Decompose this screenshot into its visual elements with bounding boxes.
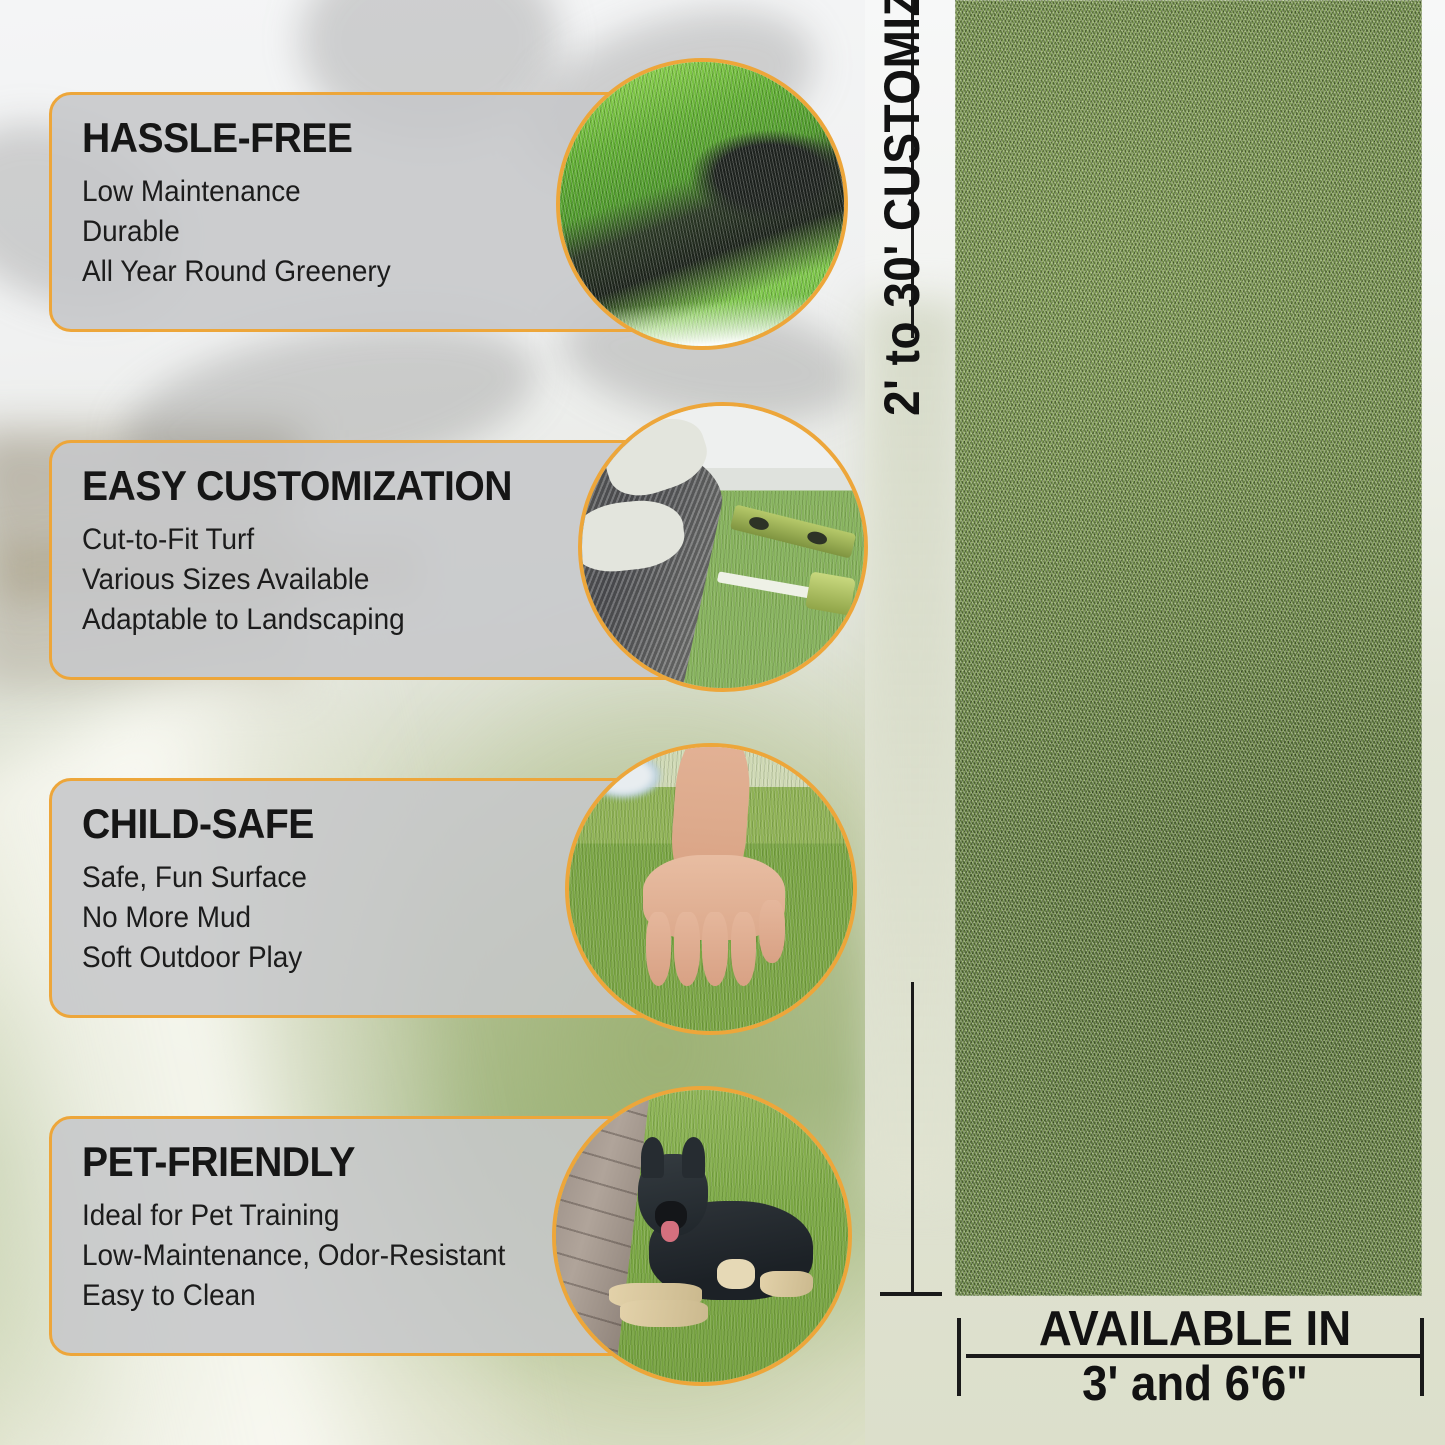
- feature-title: HASSLE-FREE: [82, 117, 625, 160]
- feature-bullet: Safe, Fun Surface: [82, 858, 625, 898]
- feature-bullet: No More Mud: [82, 898, 625, 938]
- dog-ear: [641, 1137, 664, 1178]
- feature-title: PET-FRIENDLY: [82, 1141, 625, 1184]
- feature-image-turf-installation: [578, 402, 868, 692]
- child-thumb: [759, 900, 785, 962]
- dog-hind-leg: [760, 1271, 813, 1297]
- feature-bullet: Easy to Clean: [82, 1276, 625, 1316]
- feature-bullet: Ideal for Pet Training: [82, 1196, 625, 1236]
- feature-image-turf-roll-closeup: [556, 58, 848, 350]
- feature-title: CHILD-SAFE: [82, 803, 625, 846]
- feature-title: EASY CUSTOMIZATION: [82, 465, 625, 508]
- child-finger: [702, 912, 728, 986]
- length-dimension-endcap-bottom: [880, 1292, 942, 1296]
- width-dimension-line1: AVAILABLE IN: [976, 1305, 1413, 1354]
- product-infographic: 2' to 30' CUSTOMIZABLE AVAILABLE IN 3' a…: [0, 0, 1445, 1445]
- length-dimension-label: 2' to 30' CUSTOMIZABLE: [864, 0, 940, 416]
- length-dimension-text: 2' to 30' CUSTOMIZABLE: [873, 0, 931, 416]
- tape-measure-housing: [805, 572, 856, 616]
- dog-chest-marking: [717, 1259, 755, 1288]
- dog-ear: [682, 1137, 705, 1178]
- child-finger: [646, 912, 672, 986]
- width-dimension-line2: 3' and 6'6": [976, 1358, 1413, 1411]
- width-dimension-label: AVAILABLE IN 3' and 6'6": [960, 1305, 1430, 1411]
- feature-image-child-hand-on-turf: [565, 743, 857, 1035]
- feature-bullet: Soft Outdoor Play: [82, 938, 625, 978]
- dog-tongue: [661, 1221, 679, 1241]
- child-finger: [674, 912, 700, 986]
- dog-front-leg: [620, 1300, 708, 1326]
- background-blur-object: [586, 753, 660, 798]
- feature-image-dog-on-turf: [552, 1086, 852, 1386]
- length-dimension-line-bottom: [911, 982, 914, 1294]
- feature-bullet: All Year Round Greenery: [82, 252, 625, 292]
- turf-product-strip: [955, 0, 1422, 1296]
- feature-bullet: Adaptable to Landscaping: [82, 600, 625, 640]
- feature-bullet: Low-Maintenance, Odor-Resistant: [82, 1236, 625, 1276]
- feature-bullet: Low Maintenance: [82, 172, 625, 212]
- background-right-blur: [865, 300, 965, 1200]
- feature-bullet: Various Sizes Available: [82, 560, 625, 600]
- feature-bullet: Durable: [82, 212, 625, 252]
- child-finger: [731, 912, 757, 986]
- feature-bullet: Cut-to-Fit Turf: [82, 520, 625, 560]
